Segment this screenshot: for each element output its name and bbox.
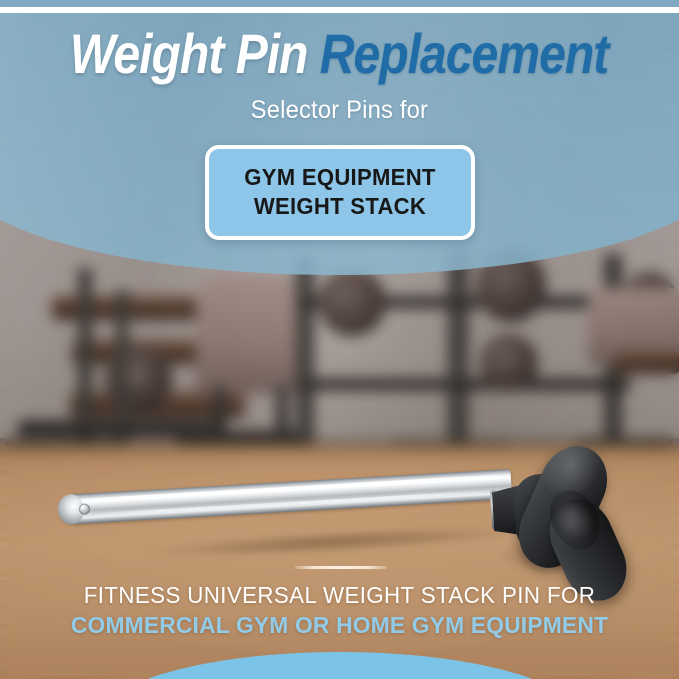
product-marketing-image: Weight Pin Replacement Selector Pins for… bbox=[0, 0, 679, 679]
hero-subtitle: Selector Pins for bbox=[251, 98, 428, 123]
title-part-accent: Replacement bbox=[320, 22, 608, 85]
badge-line-1: GYM EQUIPMENT bbox=[214, 163, 466, 192]
footer-caption: FITNESS UNIVERSAL WEIGHT STACK PIN FOR C… bbox=[0, 582, 679, 640]
caption-divider-rule bbox=[295, 566, 387, 569]
page-title: Weight Pin Replacement bbox=[70, 26, 608, 82]
footer-line-2: COMMERCIAL GYM OR HOME GYM EQUIPMENT bbox=[10, 612, 669, 640]
title-part-primary: Weight Pin bbox=[70, 22, 320, 85]
hero-content: Weight Pin Replacement Selector Pins for… bbox=[0, 13, 679, 243]
top-blue-edge bbox=[0, 0, 679, 7]
application-badge: GYM EQUIPMENT WEIGHT STACK bbox=[205, 145, 475, 240]
footer-line-1: FITNESS UNIVERSAL WEIGHT STACK PIN FOR bbox=[10, 582, 669, 609]
badge-line-2: WEIGHT STACK bbox=[214, 192, 466, 221]
